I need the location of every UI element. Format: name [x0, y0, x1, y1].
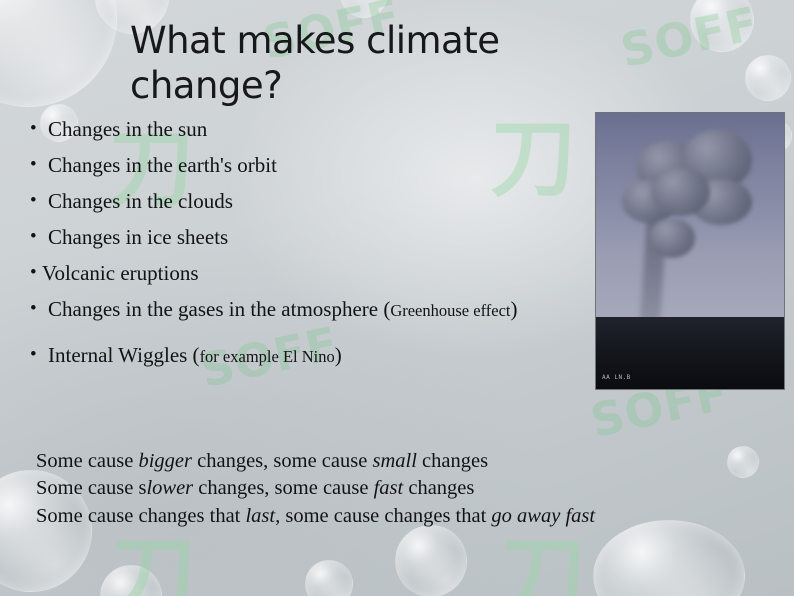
decorative-bubble	[593, 520, 745, 596]
bullet-text: Volcanic eruptions	[42, 262, 590, 286]
decorative-bubble	[745, 55, 791, 101]
closing-line: Some cause slower changes, some cause fa…	[36, 475, 736, 502]
decorative-bubble	[690, 0, 754, 52]
slide-title: What makes climate change?	[130, 18, 610, 108]
bullet-marker: •	[30, 118, 48, 140]
bullet-marker: •	[30, 298, 48, 320]
list-item: • Changes in the sun	[30, 118, 590, 142]
photo-ash-cloud	[649, 218, 695, 258]
closing-c: changes	[417, 450, 488, 472]
bullet-marker: •	[30, 226, 48, 248]
closing-a: Some cause	[36, 450, 138, 472]
watermark-text: SOFF	[616, 0, 763, 78]
bullet-text-after: )	[511, 297, 518, 321]
volcanic-eruption-photo: AA LN.B	[595, 112, 785, 390]
bullet-text: Changes in ice sheets	[48, 226, 590, 250]
bullet-text-main: Changes in the gases in the atmosphere (	[48, 297, 390, 321]
bullet-marker: •	[30, 262, 42, 284]
closing-line: Some cause bigger changes, some cause sm…	[36, 448, 736, 475]
closing-line: Some cause changes that last, some cause…	[36, 503, 736, 530]
closing-em1: bigger	[138, 450, 192, 472]
decorative-bubble	[100, 565, 162, 596]
decorative-bubble	[340, 0, 388, 18]
photo-caption: AA LN.B	[602, 374, 631, 381]
list-item: • Volcanic eruptions	[30, 262, 590, 286]
bullet-text-small: for example El Nino	[200, 347, 335, 366]
list-item: • Changes in ice sheets	[30, 226, 590, 250]
closing-c: changes	[403, 477, 474, 499]
decorative-bubble	[395, 525, 467, 596]
closing-b: changes, some cause	[193, 477, 373, 499]
decorative-bubble	[0, 0, 117, 107]
closing-paragraph: Some cause bigger changes, some cause sm…	[36, 448, 736, 530]
closing-a: Some cause s	[36, 477, 146, 499]
list-item: • Changes in the gases in the atmosphere…	[30, 298, 590, 322]
bullet-text-small: Greenhouse effect	[390, 301, 510, 320]
list-item: • Changes in the earth's orbit	[30, 154, 590, 178]
closing-em2: small	[372, 450, 416, 472]
closing-em1: last,	[245, 505, 280, 527]
bullet-marker: •	[30, 190, 48, 212]
bullet-list: • Changes in the sun • Changes in the ea…	[30, 118, 590, 380]
decorative-bubble	[305, 560, 353, 596]
closing-em2: go away fast	[491, 505, 595, 527]
bullet-text: Changes in the sun	[48, 118, 590, 142]
closing-a: Some cause changes that	[36, 505, 245, 527]
closing-em2: fast	[374, 477, 404, 499]
list-item: • Internal Wiggles (for example El Nino)	[30, 344, 590, 368]
closing-b: changes, some cause	[192, 450, 372, 472]
list-item: • Changes in the clouds	[30, 190, 590, 214]
bullet-marker: •	[30, 154, 48, 176]
slide-canvas: SOFF SOFF SOFF SOFF 刀 刀 刀 刀 What makes c…	[0, 0, 794, 596]
bullet-text: Changes in the gases in the atmosphere (…	[48, 298, 590, 322]
closing-b: some cause changes that	[280, 505, 491, 527]
bullet-text-main: Internal Wiggles (	[48, 343, 200, 367]
bullet-text: Changes in the earth's orbit	[48, 154, 590, 178]
bullet-text: Changes in the clouds	[48, 190, 590, 214]
bullet-text: Internal Wiggles (for example El Nino)	[48, 344, 590, 368]
bullet-text-after: )	[335, 343, 342, 367]
closing-em1: lower	[146, 477, 193, 499]
bullet-marker: •	[30, 344, 48, 366]
